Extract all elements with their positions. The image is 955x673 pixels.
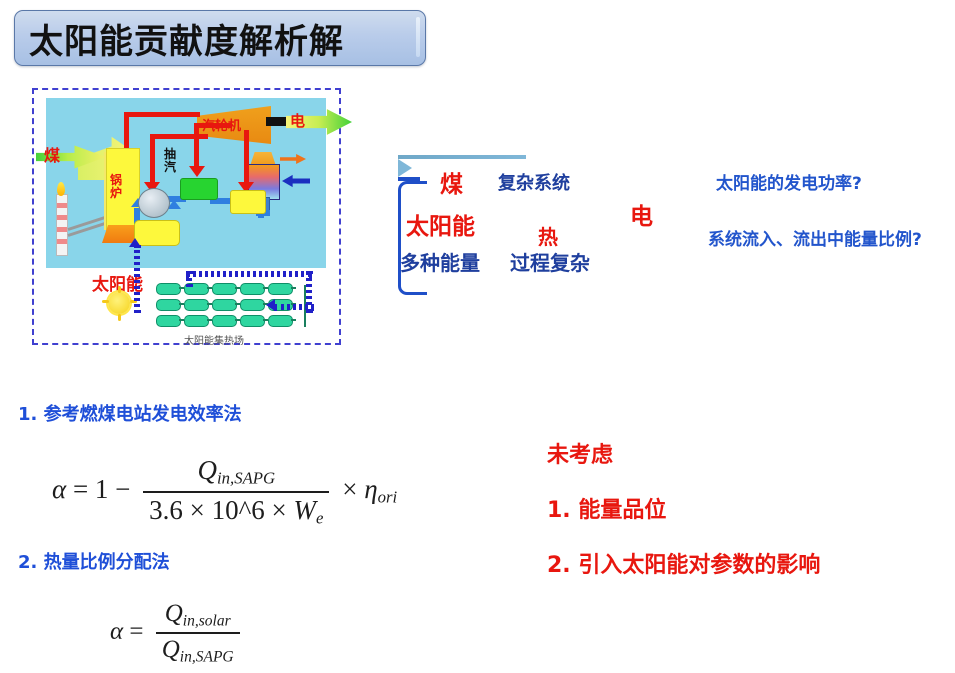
formula-2-fraction: Qin,solar Qin,SAPG: [156, 600, 240, 667]
flow-input-coal: 煤: [440, 165, 463, 199]
formula-2-denominator: Qin,SAPG: [156, 632, 240, 666]
method-1-formula: α = 1 − Qin,SAPG 3.6 × 10^6 × We × ηori: [52, 455, 397, 528]
boiler-label: 锅炉: [110, 174, 124, 200]
collector-field-caption: 太阳能集热场: [184, 332, 244, 347]
flow-arrow-line: [398, 155, 526, 159]
method-1-heading: 1. 参考燃煤电站发电效率法: [18, 400, 242, 426]
sun-ray-icon: [118, 314, 121, 321]
formula-1-equals: =: [73, 474, 88, 504]
extraction-steam-label: 抽汽: [164, 148, 178, 174]
flow-process-top: 复杂系统: [498, 169, 570, 195]
sun-icon: [108, 292, 130, 314]
flow-process-caption: 过程复杂: [510, 247, 590, 276]
formula-1-times: ×: [342, 474, 357, 504]
flow-output-electricity: 电: [630, 197, 653, 231]
formula-1-alpha: α: [52, 474, 66, 504]
notes-heading: 未考虑: [547, 437, 613, 469]
formula-1-denominator: 3.6 × 10^6 × We: [143, 491, 329, 529]
sun-ray-icon: [102, 300, 109, 303]
heater-yellow-1: [230, 190, 266, 214]
steam-pipe-down-1: [150, 134, 155, 186]
formula-2-numerator: Qin,solar: [159, 600, 237, 632]
solar-heat-to-cycle-arrow-icon: [129, 238, 141, 247]
formula-1-eta: ηori: [364, 474, 397, 504]
method-2-heading: 2. 热量比例分配法: [18, 548, 170, 574]
electricity-label: 电: [290, 110, 305, 131]
sun-ray-icon: [118, 286, 121, 293]
steam-pipe-to-boiler: [124, 112, 129, 148]
condenser-drum-icon: [138, 188, 170, 218]
flow-arrow-head-icon: [398, 159, 412, 177]
flow-process-bottom: 热: [538, 221, 558, 250]
energy-flow-diagram: 煤 太阳能 多种能量 复杂系统 热 过程复杂 电 太阳能的发电功率? 系统流入、…: [398, 155, 955, 295]
title-highlight-stripe: [416, 17, 420, 57]
slide-title-box: 太阳能贡献度解析解: [14, 10, 426, 66]
solar-loop-dotted-return: [274, 304, 314, 310]
notes-item-1: 1. 能量品位: [547, 492, 666, 524]
solar-loop-dotted-top: [186, 271, 312, 277]
steam-pipe-down-2: [194, 123, 199, 169]
steam-pipe-down-3: [244, 130, 249, 186]
coal-label: 煤: [44, 142, 60, 166]
formula-1-one: 1: [95, 474, 109, 504]
flow-input-caption: 多种能量: [400, 247, 480, 276]
heater-green: [180, 178, 218, 200]
notes-item-2: 2. 引入太阳能对参数的影响: [547, 547, 820, 579]
chimney-icon: [56, 194, 68, 256]
method-2-formula: α = Qin,solar Qin,SAPG: [110, 600, 246, 667]
solar-loop-dotted-drop: [186, 271, 192, 287]
page-title: 太阳能贡献度解析解: [15, 14, 344, 63]
flow-input-solar: 太阳能: [406, 207, 475, 241]
flow-question-1: 太阳能的发电功率?: [716, 169, 862, 194]
solar-loop-arrow-icon: [266, 299, 275, 311]
formula-1-fraction: Qin,SAPG 3.6 × 10^6 × We: [143, 455, 329, 528]
formula-1-numerator: Qin,SAPG: [192, 455, 282, 491]
solar-loop-dotted-vertical-left: [134, 245, 140, 313]
flow-question-2: 系统流入、流出中能量比例?: [708, 225, 922, 250]
flame-icon: [57, 182, 65, 196]
steam-pipe-extract-2: [194, 123, 232, 128]
steam-arrow-2-icon: [189, 166, 205, 177]
formula-2-alpha: α: [110, 618, 123, 645]
formula-2-equals: =: [129, 618, 143, 645]
formula-1-minus: −: [115, 474, 130, 504]
steam-pipe-main-top: [124, 112, 200, 117]
plant-diagram-frame: 煤 锅炉 汽轮机 电 抽汽 太阳能: [32, 88, 341, 345]
steam-pipe-extract-1: [150, 134, 208, 139]
